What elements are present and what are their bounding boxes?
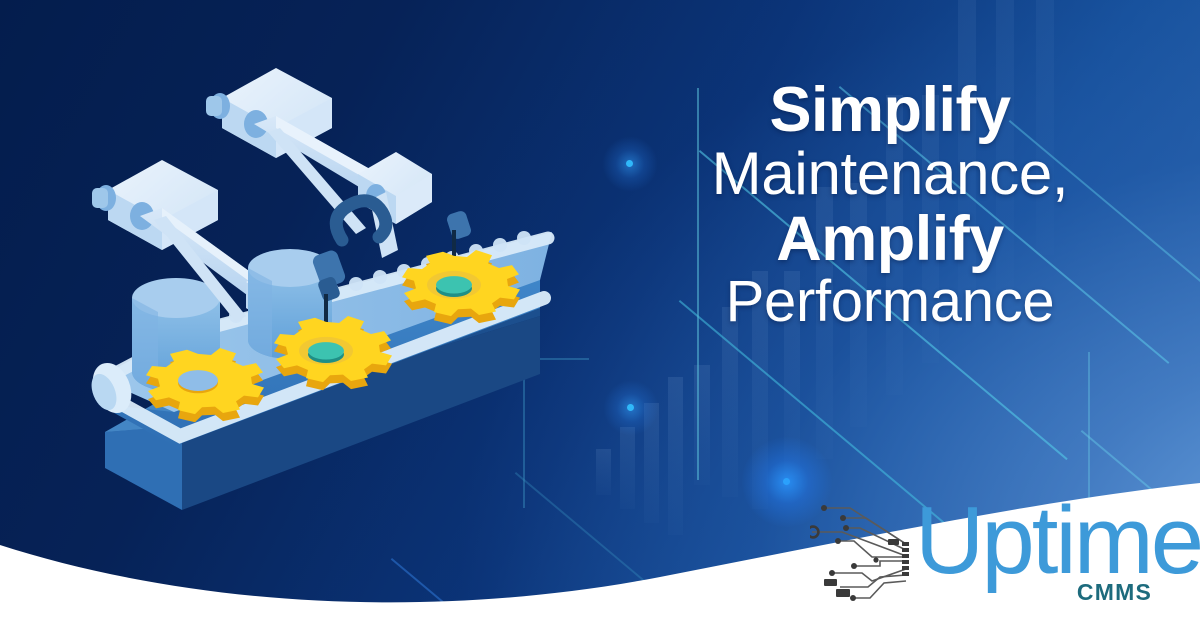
uptime-cmms-logo[interactable]: Uptime CMMS [810,495,1160,615]
headline-line-3: Amplify [660,207,1120,272]
marketing-banner: Simplify Maintenance, Amplify Performanc… [0,0,1200,627]
glow-dot-middle [627,404,634,411]
headline-line-2: Maintenance, [660,143,1120,205]
headline-line-1: Simplify [660,78,1120,143]
logo-subtitle: CMMS [1077,579,1152,606]
logo-wordmark: Uptime [915,493,1200,589]
glow-dot-upper [626,160,633,167]
illustration-robot-conveyor [70,40,590,520]
headline-block: Simplify Maintenance, Amplify Performanc… [660,78,1120,331]
headline-line-4: Performance [660,272,1120,332]
circuit-board-icon [810,503,920,603]
